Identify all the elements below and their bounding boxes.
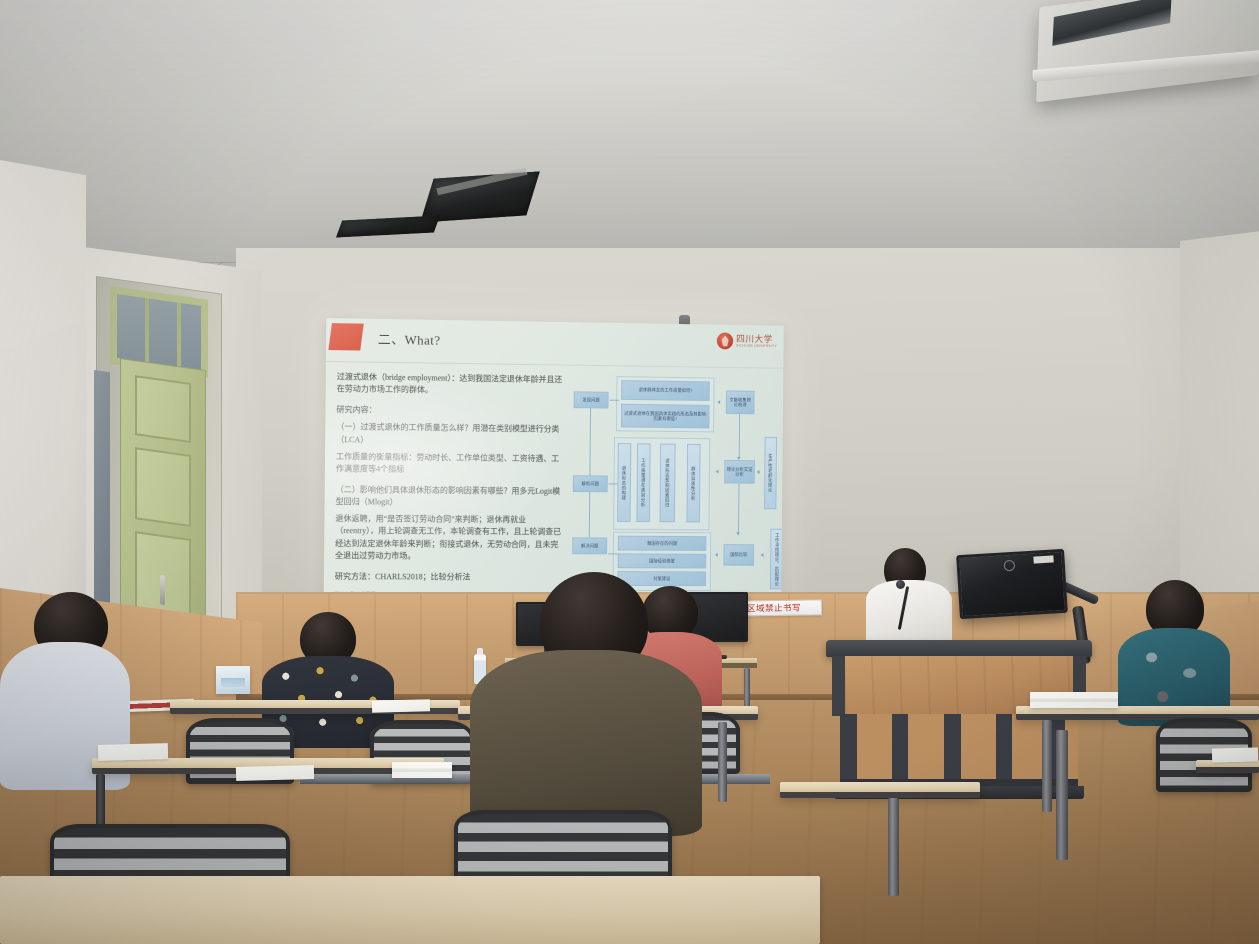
slide-paragraph: （一）过渡式退休的工作质量怎么样？用潜在类别模型进行分类（LCA）: [336, 422, 566, 449]
flow-theory-box: 生产性老龄化理论: [764, 437, 777, 509]
slide-body: 过渡式退休（bridge employment）：达到我国法定退休年龄并且还在劳…: [324, 362, 784, 595]
flow-stage-label: 解决问题: [572, 537, 607, 554]
flow-connector: [608, 553, 618, 554]
presentation-slide: 二、What? 四川大学 SICHUAN UNIVERSITY 过渡式退休（br…: [324, 318, 784, 602]
flow-arrow-icon: [715, 553, 718, 557]
dell-monitor: [956, 549, 1068, 619]
desk-leg: [1042, 720, 1052, 812]
paper-sheet: [372, 699, 430, 713]
slide-paragraph: 退休返聘，用“是否签订劳动合同”来判断；退休再就业（reentry），用上轮调查…: [335, 513, 565, 563]
tissue-box: [216, 666, 250, 694]
flow-stage-label: 发现问题: [574, 391, 609, 408]
slide-paragraph: 工作质量的衡量指标：劳动时长、工作单位类型、工资待遇、工作满意度等4个指标: [336, 451, 566, 477]
flow-connector: [609, 483, 619, 484]
flow-connector: [609, 400, 619, 401]
rolled-paper: [98, 743, 168, 761]
foreground-desk: [0, 876, 820, 944]
flow-method-box: 国际比较: [723, 544, 754, 566]
slide-header: 二、What? 四川大学 SICHUAN UNIVERSITY: [326, 318, 784, 369]
flow-arrow-icon: [716, 470, 719, 474]
attendee-torso: [470, 650, 702, 836]
flow-vertical-box: 退休形态的构建: [617, 443, 631, 522]
desk-leg: [718, 722, 727, 802]
university-logo: 四川大学 SICHUAN UNIVERSITY: [717, 333, 777, 351]
door-panel: [135, 375, 191, 443]
presenter-torso: [866, 580, 952, 646]
lectern-top: [826, 640, 1092, 657]
flow-method-box: 理论分析实证分析: [724, 460, 755, 484]
slide-text-column: 过渡式退休（bridge employment）：达到我国法定退休年龄并且还在劳…: [324, 362, 572, 595]
flow-arrow-icon: [757, 470, 760, 474]
flow-vertical-box: 退休形态影响因素回归: [660, 444, 676, 523]
desk-leg: [888, 798, 899, 896]
flow-method-box: 文献收集理论梳理: [726, 390, 755, 414]
paper-sheet: [236, 765, 314, 781]
slide-paragraph: （二）影响他们具体退休形态的影响因素有哪些？用多元Logit模型回归（Mlogi…: [335, 484, 565, 510]
flow-arrow-icon: [736, 532, 740, 535]
flow-vertical-box: 工作质量潜在类别分析: [636, 443, 650, 522]
desk-leg: [744, 668, 750, 708]
door-panel: [135, 447, 191, 527]
paper-stack: [1030, 692, 1118, 708]
flow-vertical-box: 群体异质性分析: [686, 444, 700, 523]
flow-connector: [738, 484, 739, 535]
flow-stage-label: 解析问题: [573, 475, 608, 492]
flow-solution-box: 国际经验借鉴: [618, 553, 707, 568]
slide-paragraph: 研究方法：CHARLS2018；比较分析法: [335, 571, 564, 584]
paper-stack: [392, 762, 452, 778]
student-desk: [780, 782, 980, 798]
door-handle[interactable]: [160, 575, 165, 606]
flow-arrow-icon: [717, 400, 720, 404]
flow-arrow-icon: [761, 553, 764, 557]
paper-sheet: [1212, 747, 1258, 762]
slide-paragraph: 研究内容：: [336, 404, 565, 419]
desk-leg: [1056, 730, 1068, 860]
monitor-sticker: [1033, 555, 1053, 563]
flow-solution-box: 我国存在的问题: [618, 536, 707, 551]
flow-solution-box: 对策建议: [617, 571, 706, 586]
dell-logo-icon: [1004, 560, 1016, 572]
slide-paragraph: 过渡式退休（bridge employment）：达到我国法定退休年龄并且还在劳…: [337, 371, 567, 398]
slide-title: 二、What?: [378, 329, 441, 349]
university-seal-icon: [717, 333, 733, 350]
slide-accent-tab: [328, 323, 363, 350]
slide-flowchart: 发现问题 解析问题 解决问题 退休群体女的工作质量如何? 过渡式退休在我国具体实…: [570, 370, 780, 599]
microphone-head-icon: [896, 580, 905, 589]
flow-question-box: 退休群体女的工作质量如何?: [621, 380, 710, 401]
flow-connector: [589, 492, 590, 537]
flow-question-box: 过渡式退休在我国具体实践的形态及其影响因素有哪些?: [621, 404, 710, 429]
no-writing-sign-text: 区域禁止书写: [747, 602, 801, 615]
flow-connector: [739, 414, 740, 459]
university-name-en: SICHUAN UNIVERSITY: [736, 344, 777, 349]
flow-connector: [589, 408, 591, 475]
projection-screen: 二、What? 四川大学 SICHUAN UNIVERSITY 过渡式退休（br…: [324, 318, 784, 602]
classroom-photo: 二、What? 四川大学 SICHUAN UNIVERSITY 过渡式退休（br…: [0, 0, 1259, 944]
